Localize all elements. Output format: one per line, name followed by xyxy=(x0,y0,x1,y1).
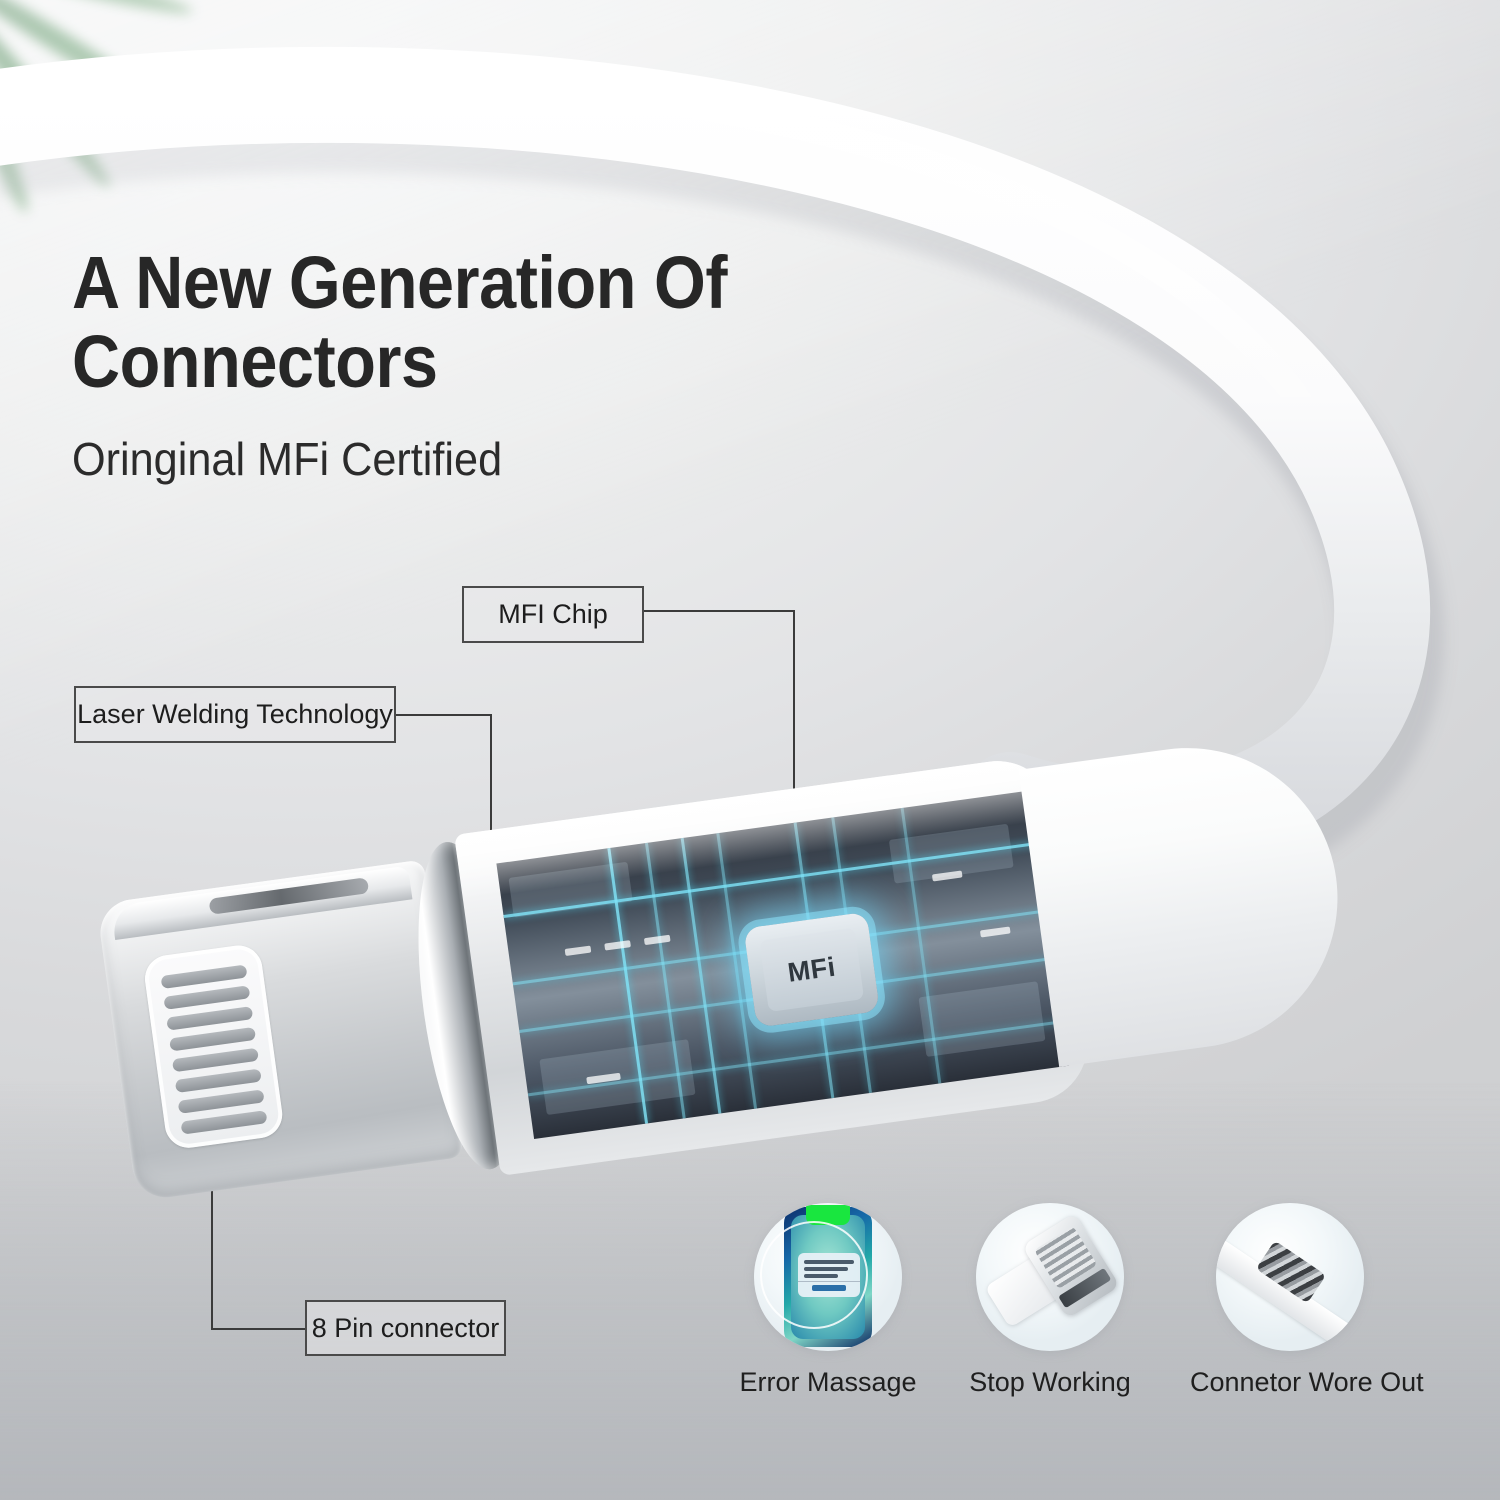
callout-laser-welding-label: Laser Welding Technology xyxy=(77,699,393,730)
callout-pin-connector[interactable]: 8 Pin connector xyxy=(305,1300,506,1356)
mfi-chip-graphic: MFi xyxy=(743,912,879,1028)
callout-pin-connector-label: 8 Pin connector xyxy=(312,1313,500,1344)
page-title: A New Generation Of Connectors xyxy=(72,243,882,401)
leader-line-mfi-chip-horizontal xyxy=(644,610,795,612)
feature-stop-working-label: Stop Working xyxy=(950,1367,1150,1398)
page-title-line-2: Connectors xyxy=(72,322,882,401)
feature-stop-working[interactable]: Stop Working xyxy=(950,1203,1150,1398)
feature-error-message[interactable]: Error Massage xyxy=(728,1203,928,1398)
phone-error-dialog-icon xyxy=(754,1203,902,1351)
mfi-chip-die: MFi xyxy=(759,928,864,1012)
feature-connector-wore-out[interactable]: Connetor Wore Out xyxy=(1190,1203,1390,1398)
leader-line-pin-horizontal xyxy=(211,1328,307,1330)
product-feature-image: A New Generation Of Connectors Oringinal… xyxy=(0,0,1500,1500)
callout-mfi-chip-label: MFI Chip xyxy=(498,599,608,630)
callout-mfi-chip[interactable]: MFI Chip xyxy=(462,586,644,643)
callout-laser-welding[interactable]: Laser Welding Technology xyxy=(74,686,396,743)
page-subtitle: Oringinal MFi Certified xyxy=(72,432,502,486)
feature-error-message-label: Error Massage xyxy=(728,1367,928,1398)
phone-highlight-ring xyxy=(760,1221,868,1329)
broken-lightning-connector-icon xyxy=(976,1203,1124,1351)
page-title-line-1: A New Generation Of xyxy=(72,243,882,322)
mfi-chip-label: MFi xyxy=(786,951,838,988)
connector-barrel: MFi xyxy=(454,754,1095,1176)
frayed-cable-icon xyxy=(1216,1203,1364,1351)
feature-connector-wore-out-label: Connetor Wore Out xyxy=(1190,1367,1390,1398)
